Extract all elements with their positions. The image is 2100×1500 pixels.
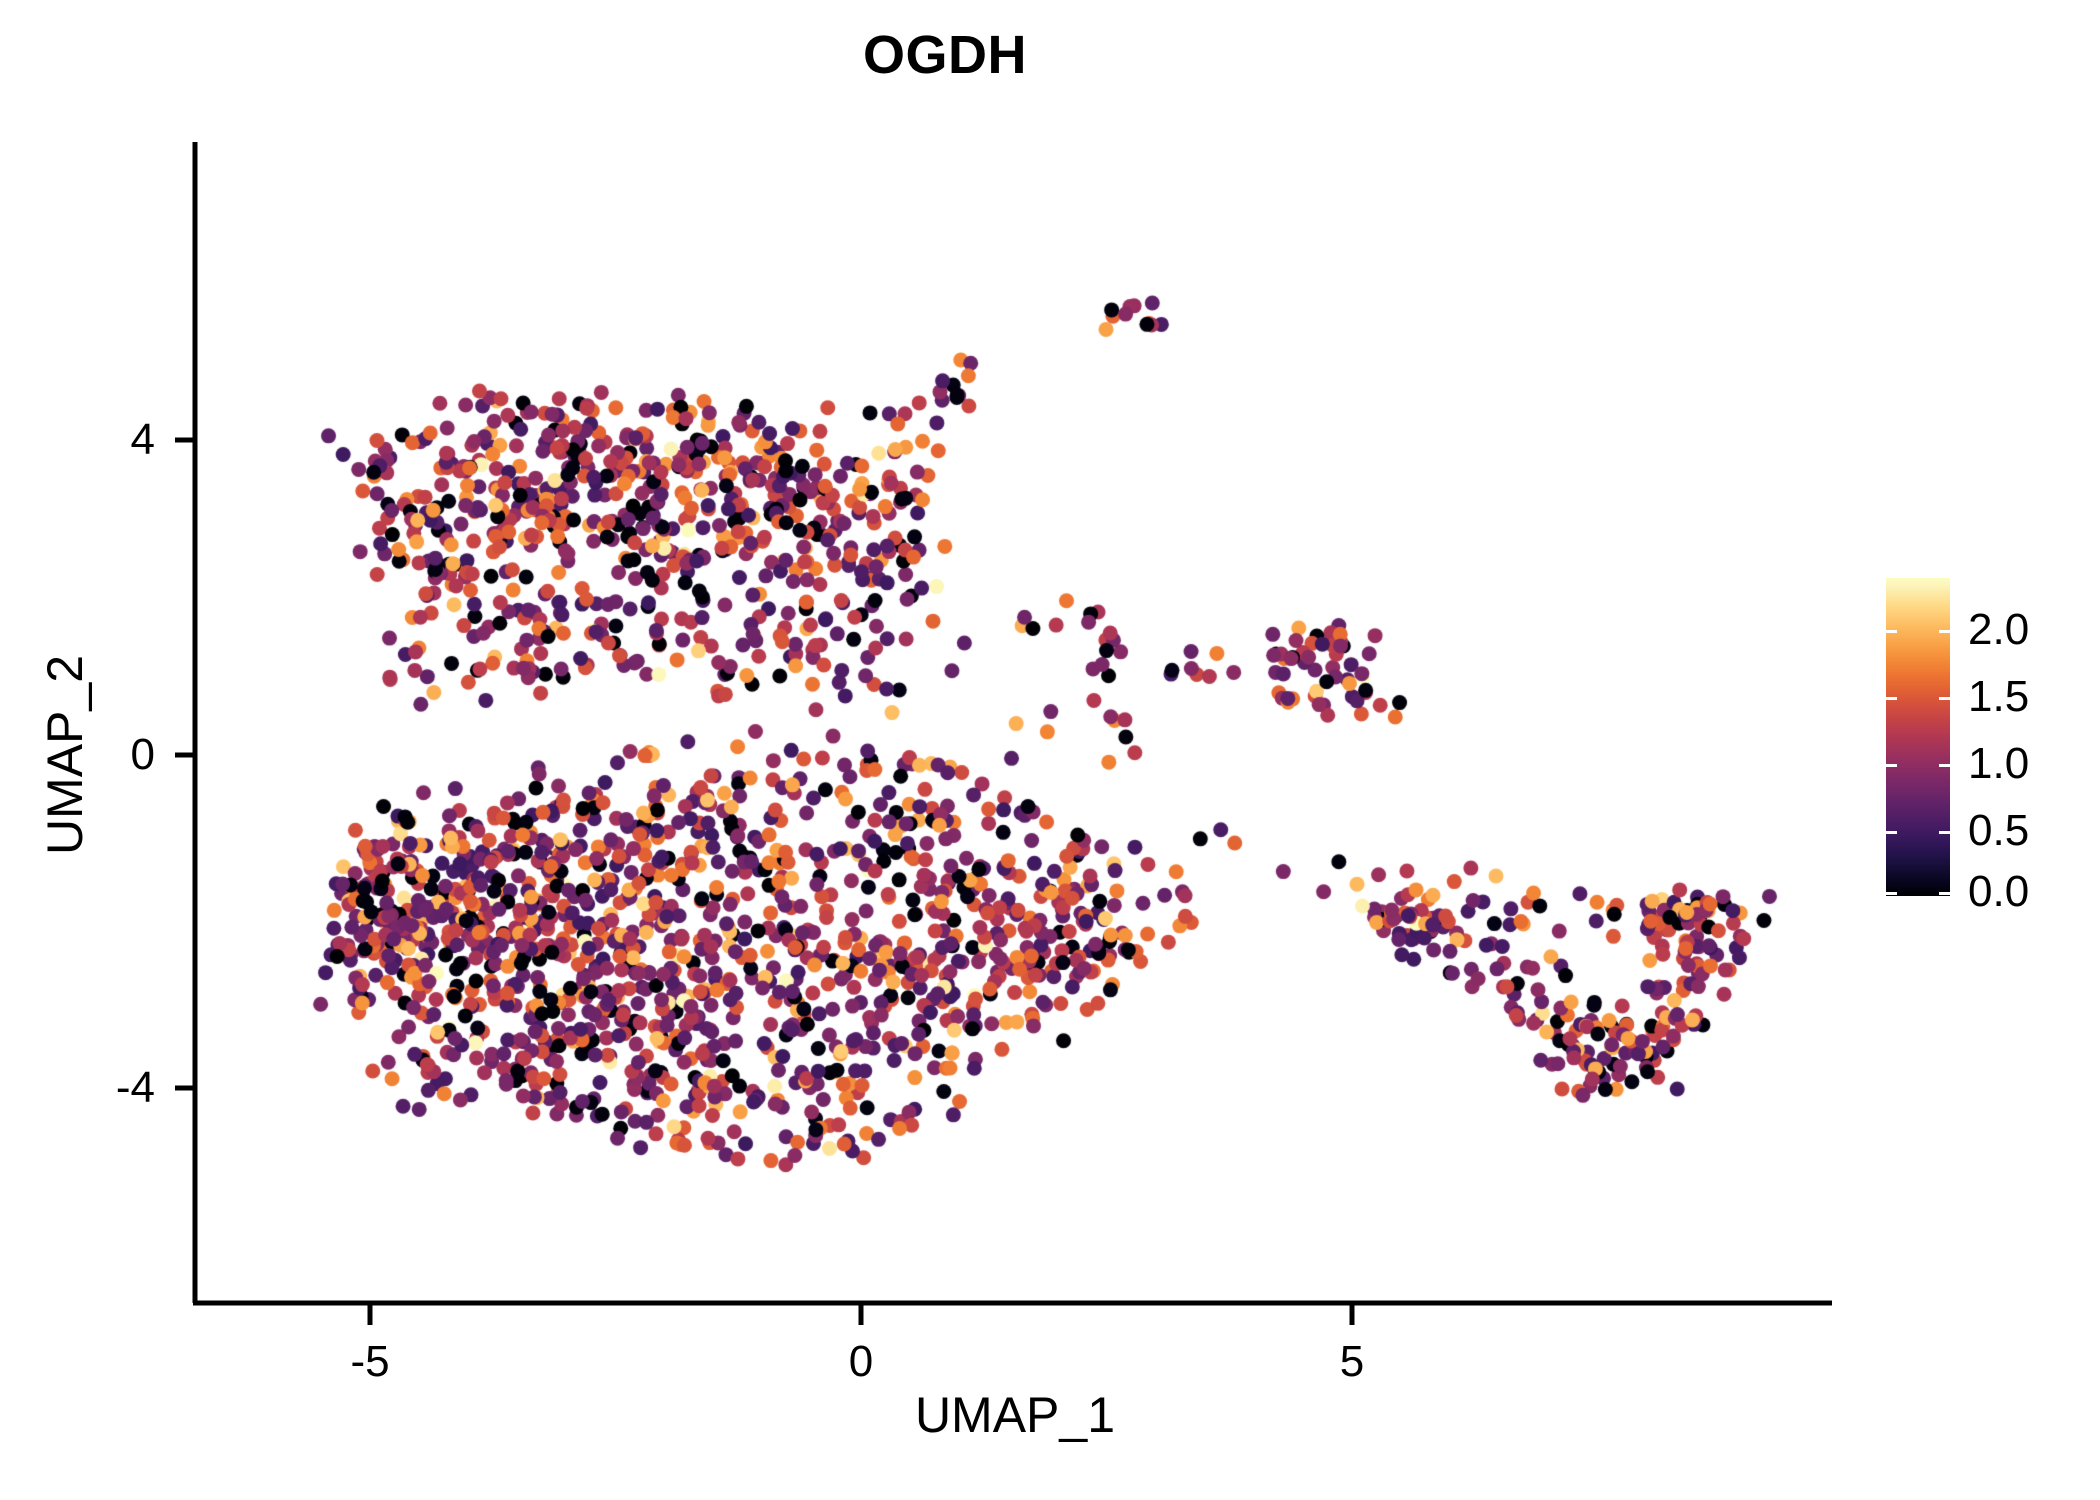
colorbar-tick-0-right [1939, 892, 1950, 895]
colorbar-tick-2-left [1886, 630, 1897, 633]
x-axis-tick-label-5: 5 [1272, 1340, 1432, 1384]
legend-label-2-0: 2.0 [1968, 608, 2029, 652]
colorbar-tick-15-right [1939, 697, 1950, 700]
legend-label-1-0: 1.0 [1968, 742, 2029, 786]
umap-feature-plot: OGDH 4 0 -4 -5 0 5 UMAP_1 UMAP_2 2.0 1.5… [0, 0, 2100, 1500]
tick-marks [175, 440, 1352, 1325]
color-legend: 2.0 1.5 1.0 0.5 0.0 [1886, 578, 2086, 898]
page-title: OGDH [0, 28, 1890, 82]
colorbar-tick-15-left [1886, 697, 1897, 700]
x-axis-tick-label-neg5: -5 [290, 1340, 450, 1384]
y-axis-title: UMAP_2 [40, 455, 90, 1055]
x-axis-title: UMAP_1 [195, 1390, 1835, 1440]
y-axis-tick-label-neg4: -4 [40, 1066, 155, 1110]
colorbar-tick-2-right [1939, 630, 1950, 633]
legend-label-0-0: 0.0 [1968, 870, 2029, 914]
x-axis-tick-label-0: 0 [781, 1340, 941, 1384]
axis-lines [0, 0, 2100, 1500]
legend-label-1-5: 1.5 [1968, 675, 2029, 719]
colorbar-gradient [1886, 578, 1950, 896]
colorbar-tick-05-left [1886, 831, 1897, 834]
legend-label-0-5: 0.5 [1968, 809, 2029, 853]
colorbar-tick-05-right [1939, 831, 1950, 834]
colorbar-tick-0-left [1886, 892, 1897, 895]
colorbar-tick-1-right [1939, 764, 1950, 767]
colorbar-tick-1-left [1886, 764, 1897, 767]
